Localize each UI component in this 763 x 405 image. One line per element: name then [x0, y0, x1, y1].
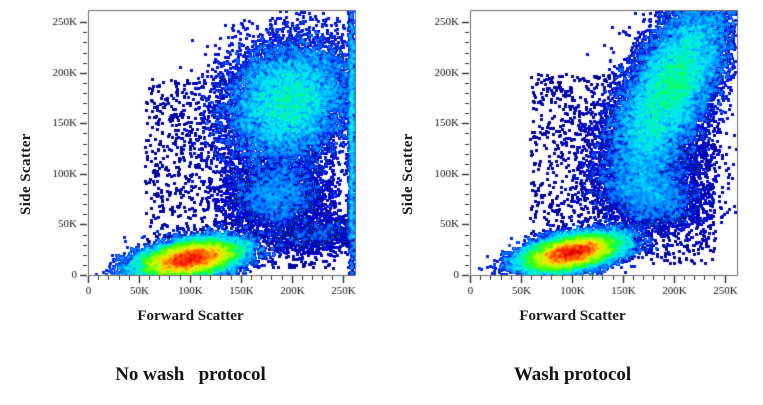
y-axis-label: Side Scatter [18, 133, 35, 215]
scatter-plot-wash[interactable] [382, 0, 763, 340]
figure-root: Side Scatter Forward Scatter No wash pro… [0, 0, 763, 405]
panel-caption-wash: Wash protocol [382, 364, 763, 386]
scatter-plot-no-wash[interactable] [0, 0, 381, 340]
y-axis-label: Side Scatter [400, 133, 417, 215]
panel-caption-no-wash: No wash protocol [0, 364, 381, 386]
panel-wash: Side Scatter Forward Scatter Wash protoc… [382, 0, 763, 405]
panel-no-wash: Side Scatter Forward Scatter No wash pro… [0, 0, 381, 405]
x-axis-label: Forward Scatter [0, 308, 381, 325]
x-axis-label: Forward Scatter [382, 308, 763, 325]
